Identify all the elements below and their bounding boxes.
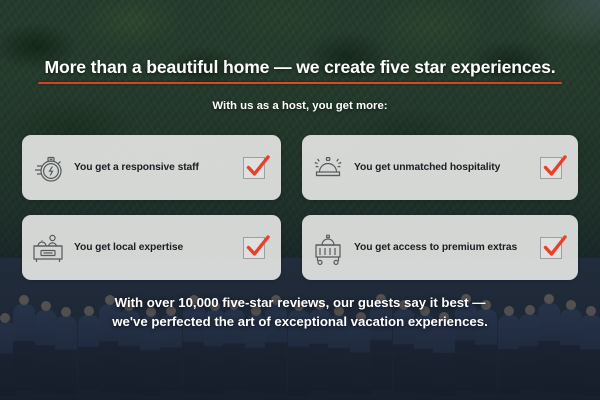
checkbox-responsive-staff[interactable] [243, 157, 265, 179]
review-count: 10,000 [178, 295, 218, 310]
checkmark-icon [540, 231, 570, 261]
checkmark-icon [540, 151, 570, 181]
checkbox-premium-extras[interactable] [540, 237, 562, 259]
subheading: With us as a host, you get more: [0, 100, 600, 112]
room-service-cart-icon [302, 230, 354, 266]
benefit-card-premium-extras[interactable]: You get access to premium extras [302, 215, 578, 280]
footer-statement: With over 10,000 five-star reviews, our … [0, 293, 600, 331]
footer-line-1: With over 10,000 five-star reviews, our … [0, 293, 600, 312]
hero-section: More than a beautiful home — we create f… [0, 0, 600, 400]
reception-desk-icon [22, 231, 74, 265]
page-title: More than a beautiful home — we create f… [0, 57, 600, 78]
checkmark-icon [243, 151, 273, 181]
benefit-label: You get local expertise [74, 242, 243, 253]
checkmark-icon [243, 231, 273, 261]
benefit-label: You get access to premium extras [354, 242, 540, 253]
benefit-label: You get a responsive staff [74, 162, 243, 173]
stopwatch-icon [22, 151, 74, 185]
footer-suffix: five-star reviews, our guests say it bes… [219, 295, 486, 310]
footer-line-2: we've perfected the art of exceptional v… [0, 312, 600, 331]
benefit-label: You get unmatched hospitality [354, 162, 540, 173]
service-bell-icon [302, 151, 354, 185]
checkbox-local-expertise[interactable] [243, 237, 265, 259]
footer-prefix: With over [115, 295, 179, 310]
checkbox-unmatched-hospitality[interactable] [540, 157, 562, 179]
accent-underline [38, 82, 562, 84]
benefit-card-unmatched-hospitality[interactable]: You get unmatched hospitality [302, 135, 578, 200]
benefit-card-local-expertise[interactable]: You get local expertise [22, 215, 281, 280]
benefit-card-responsive-staff[interactable]: You get a responsive staff [22, 135, 281, 200]
